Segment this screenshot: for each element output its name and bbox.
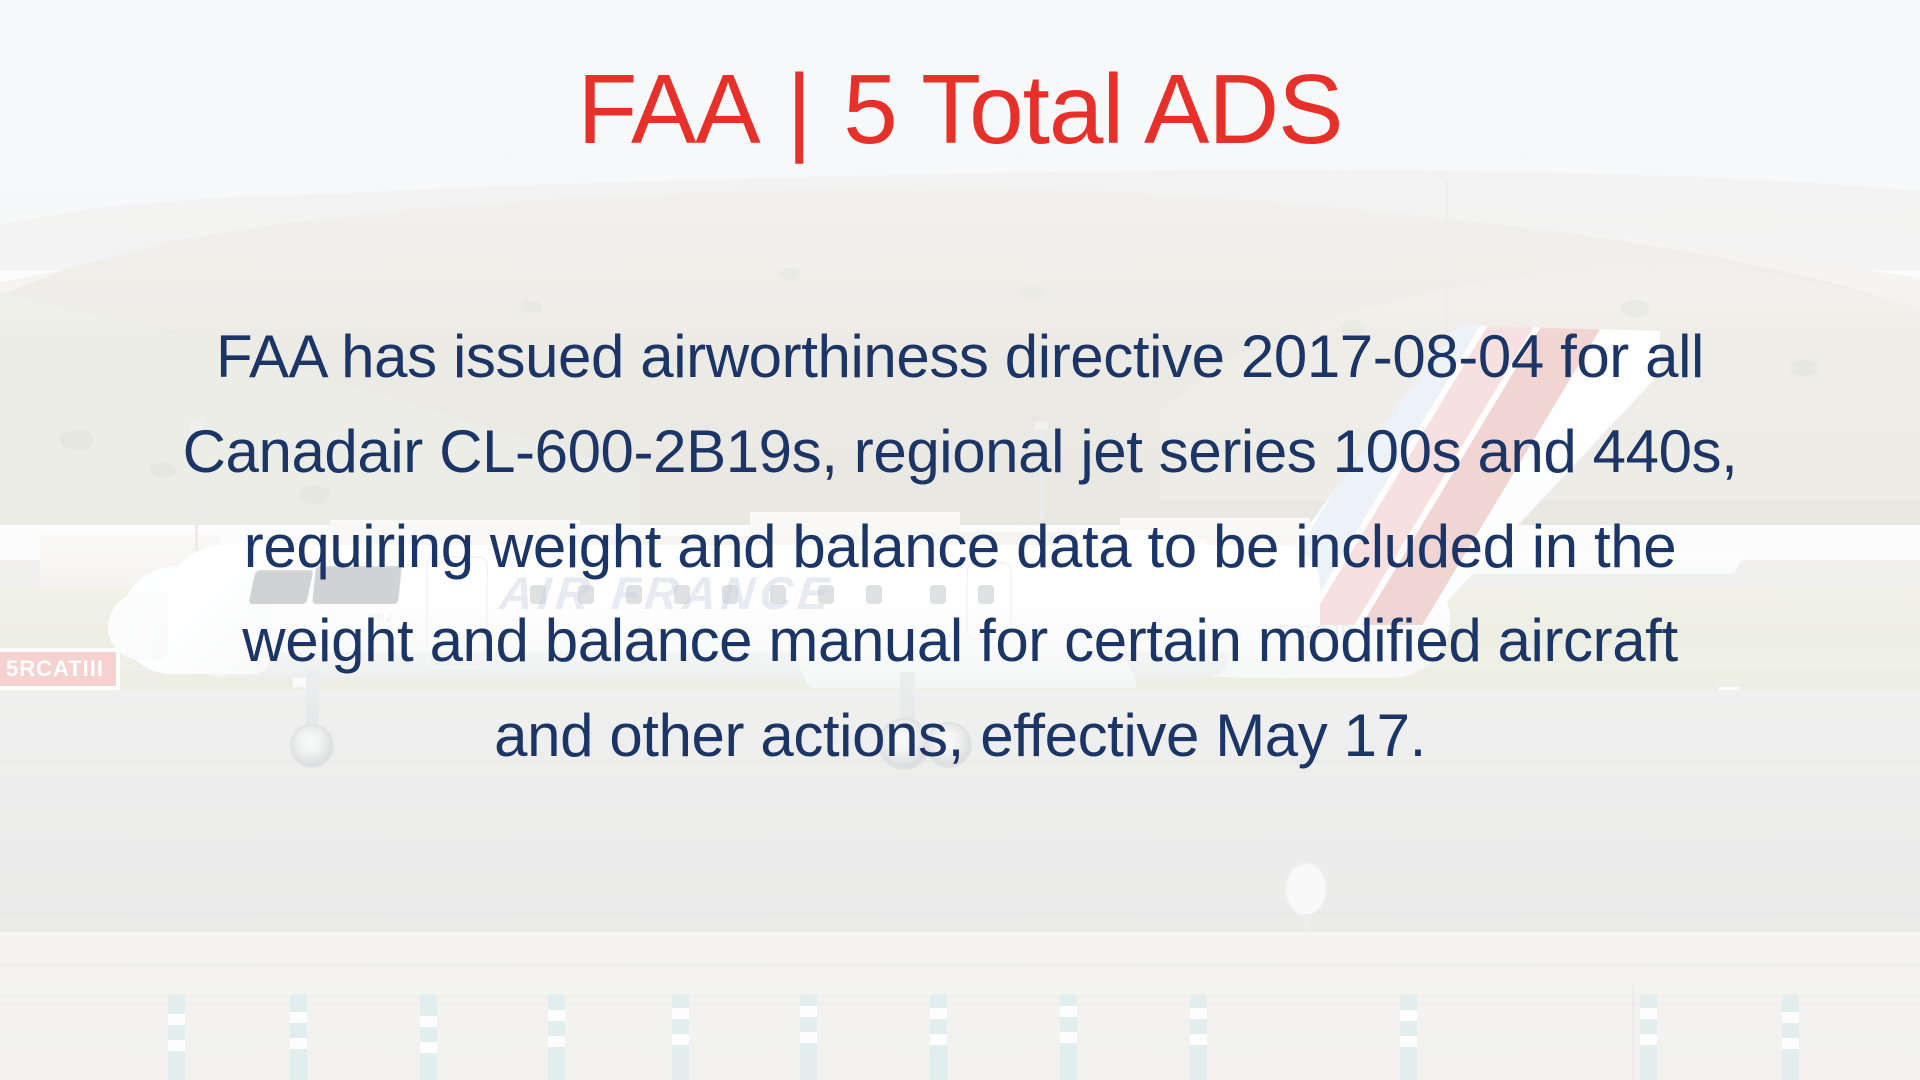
body-line: requiring weight and balance data to be … [110,500,1810,595]
title-suffix: 5 Total ADS [843,54,1342,164]
body-line: Canadair CL-600-2B19s, regional jet seri… [110,405,1810,500]
slide-canvas: 5RCATIII [0,0,1920,1080]
body-paragraph: FAA has issued airworthiness directive 2… [110,310,1810,784]
body-line: weight and balance manual for certain mo… [110,594,1810,689]
body-line: FAA has issued airworthiness directive 2… [110,310,1810,405]
title-prefix: FAA [577,54,754,164]
page-title: FAA | 5 Total ADS [0,58,1920,161]
text-layer: FAA | 5 Total ADS FAA has issued airwort… [0,0,1920,1080]
title-divider: | [781,58,817,161]
body-line: and other actions, effective May 17. [110,689,1810,784]
